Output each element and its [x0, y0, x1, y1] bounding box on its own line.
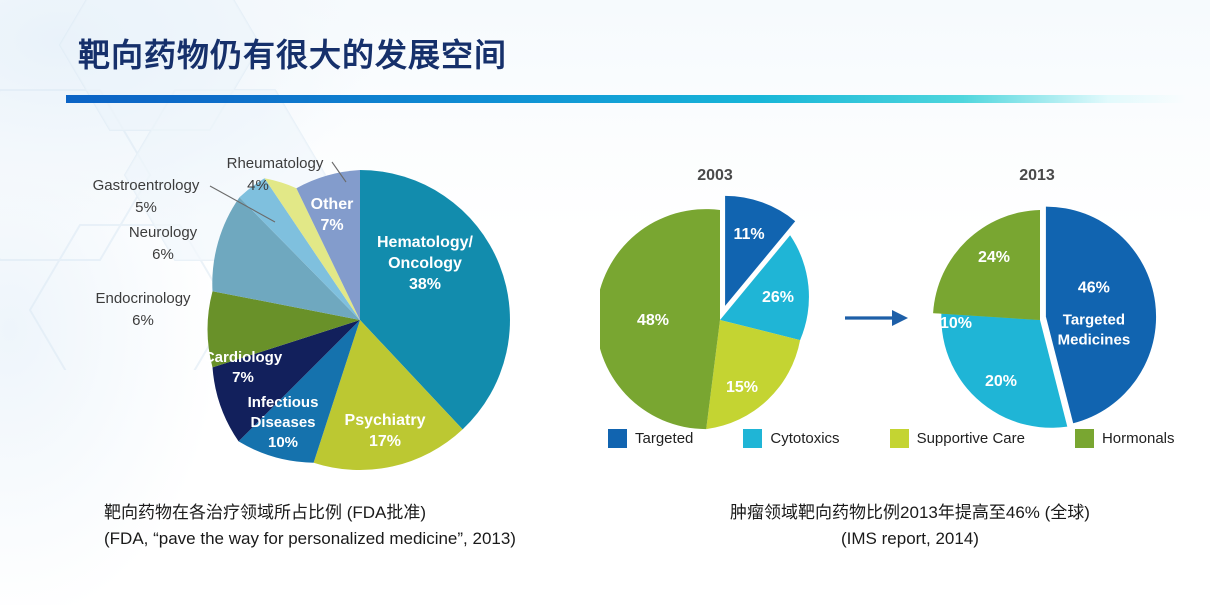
pie-label-neurology-name: Neurology	[129, 224, 198, 241]
transition-arrow-icon	[845, 310, 908, 326]
pie-label-infectious-pct: 10%	[268, 434, 298, 451]
legend-label-targeted: Targeted	[635, 430, 693, 447]
pie-callout-neurology: Neurology 6%	[129, 224, 198, 263]
title-underline-rule	[66, 95, 1186, 103]
pie-label-endocrinology-pct: 6%	[132, 312, 154, 329]
legend-swatch-hormonals	[1075, 429, 1094, 448]
legend-item-targeted[interactable]: Targeted	[608, 429, 693, 448]
therapeutic-areas-pie-chart: Hematology/ Oncology 38% Psychiatry 17% …	[60, 130, 580, 490]
caption-left: 靶向药物在各治疗领域所占比例 (FDA批准) (FDA, “pave the w…	[104, 500, 516, 553]
pie2003-label-supportive: 15%	[726, 379, 758, 396]
pie-label-neurology-pct: 6%	[152, 246, 174, 263]
pie-label-cardiology-name: Cardiology	[204, 349, 283, 366]
legend-label-cytotoxics: Cytotoxics	[770, 430, 839, 447]
legend-swatch-targeted	[608, 429, 627, 448]
pie-label-cardiology-pct: 7%	[232, 369, 254, 386]
pie-label-rheumatology-pct: 4%	[247, 177, 269, 194]
pie2013-label-cytotoxics: 20%	[985, 373, 1017, 390]
pie2003-label-hormonals: 48%	[637, 312, 669, 329]
legend-swatch-cytotoxics	[743, 429, 762, 448]
caption-right: 肿瘤领域靶向药物比例2013年提高至46% (全球) (IMS report, …	[640, 500, 1180, 553]
caption-right-line2: (IMS report, 2014)	[640, 526, 1180, 552]
pie2013-label-targeted-pct: 46%	[1078, 280, 1110, 297]
pie-callout-endocrinology: Endocrinology 6%	[95, 290, 191, 329]
pie-label-hematology-line1: Hematology/	[377, 234, 474, 251]
caption-right-line1: 肿瘤领域靶向药物比例2013年提高至46% (全球)	[640, 500, 1180, 526]
pie-label-psychiatry-name: Psychiatry	[345, 412, 426, 429]
pie-label-other-pct: 7%	[320, 217, 343, 234]
pie-label-hematology-pct: 38%	[409, 276, 441, 293]
oncology-share-pie-charts: 2003 11% 26% 15% 48% 2013 46% Targeted M…	[600, 150, 1180, 450]
legend-item-hormonals[interactable]: Hormonals	[1075, 429, 1175, 448]
pie-label-rheumatology-name: Rheumatology	[227, 155, 324, 172]
pie2013-annotation-line1: Targeted	[1063, 312, 1125, 329]
caption-left-line1: 靶向药物在各治疗领域所占比例 (FDA批准)	[104, 500, 516, 526]
pie2013-annotation-line2: Medicines	[1058, 332, 1131, 349]
legend-item-cytotoxics[interactable]: Cytotoxics	[743, 429, 839, 448]
pie-label-hematology-line2: Oncology	[388, 255, 462, 272]
pie-label-gastroentrology-name: Gastroentrology	[93, 177, 200, 194]
page-title: 靶向药物仍有很大的发展空间	[78, 30, 507, 76]
year-label-2003: 2003	[697, 167, 733, 184]
pie2013-label-hormonals: 24%	[978, 249, 1010, 266]
caption-left-line2: (FDA, “pave the way for personalized med…	[104, 526, 516, 552]
pie-label-gastroentrology-pct: 5%	[135, 199, 157, 216]
pie-label-other-name: Other	[311, 196, 354, 213]
pie2003-label-targeted: 11%	[734, 226, 765, 243]
legend-label-hormonals: Hormonals	[1102, 430, 1175, 447]
chart-legend: Targeted Cytotoxics Supportive Care Horm…	[608, 427, 1168, 449]
pie-label-endocrinology-name: Endocrinology	[95, 290, 191, 307]
pie-label-psychiatry-pct: 17%	[369, 433, 401, 450]
pie-label-infectious-line2: Diseases	[250, 414, 315, 431]
pie2003-label-cytotoxics: 26%	[762, 289, 794, 306]
legend-label-supportive-care: Supportive Care	[917, 430, 1025, 447]
pie-label-infectious-line1: Infectious	[248, 394, 319, 411]
year-label-2013: 2013	[1019, 167, 1055, 184]
legend-swatch-supportive-care	[890, 429, 909, 448]
legend-item-supportive-care[interactable]: Supportive Care	[890, 429, 1025, 448]
pie2013-label-supportive: 10%	[940, 315, 972, 332]
